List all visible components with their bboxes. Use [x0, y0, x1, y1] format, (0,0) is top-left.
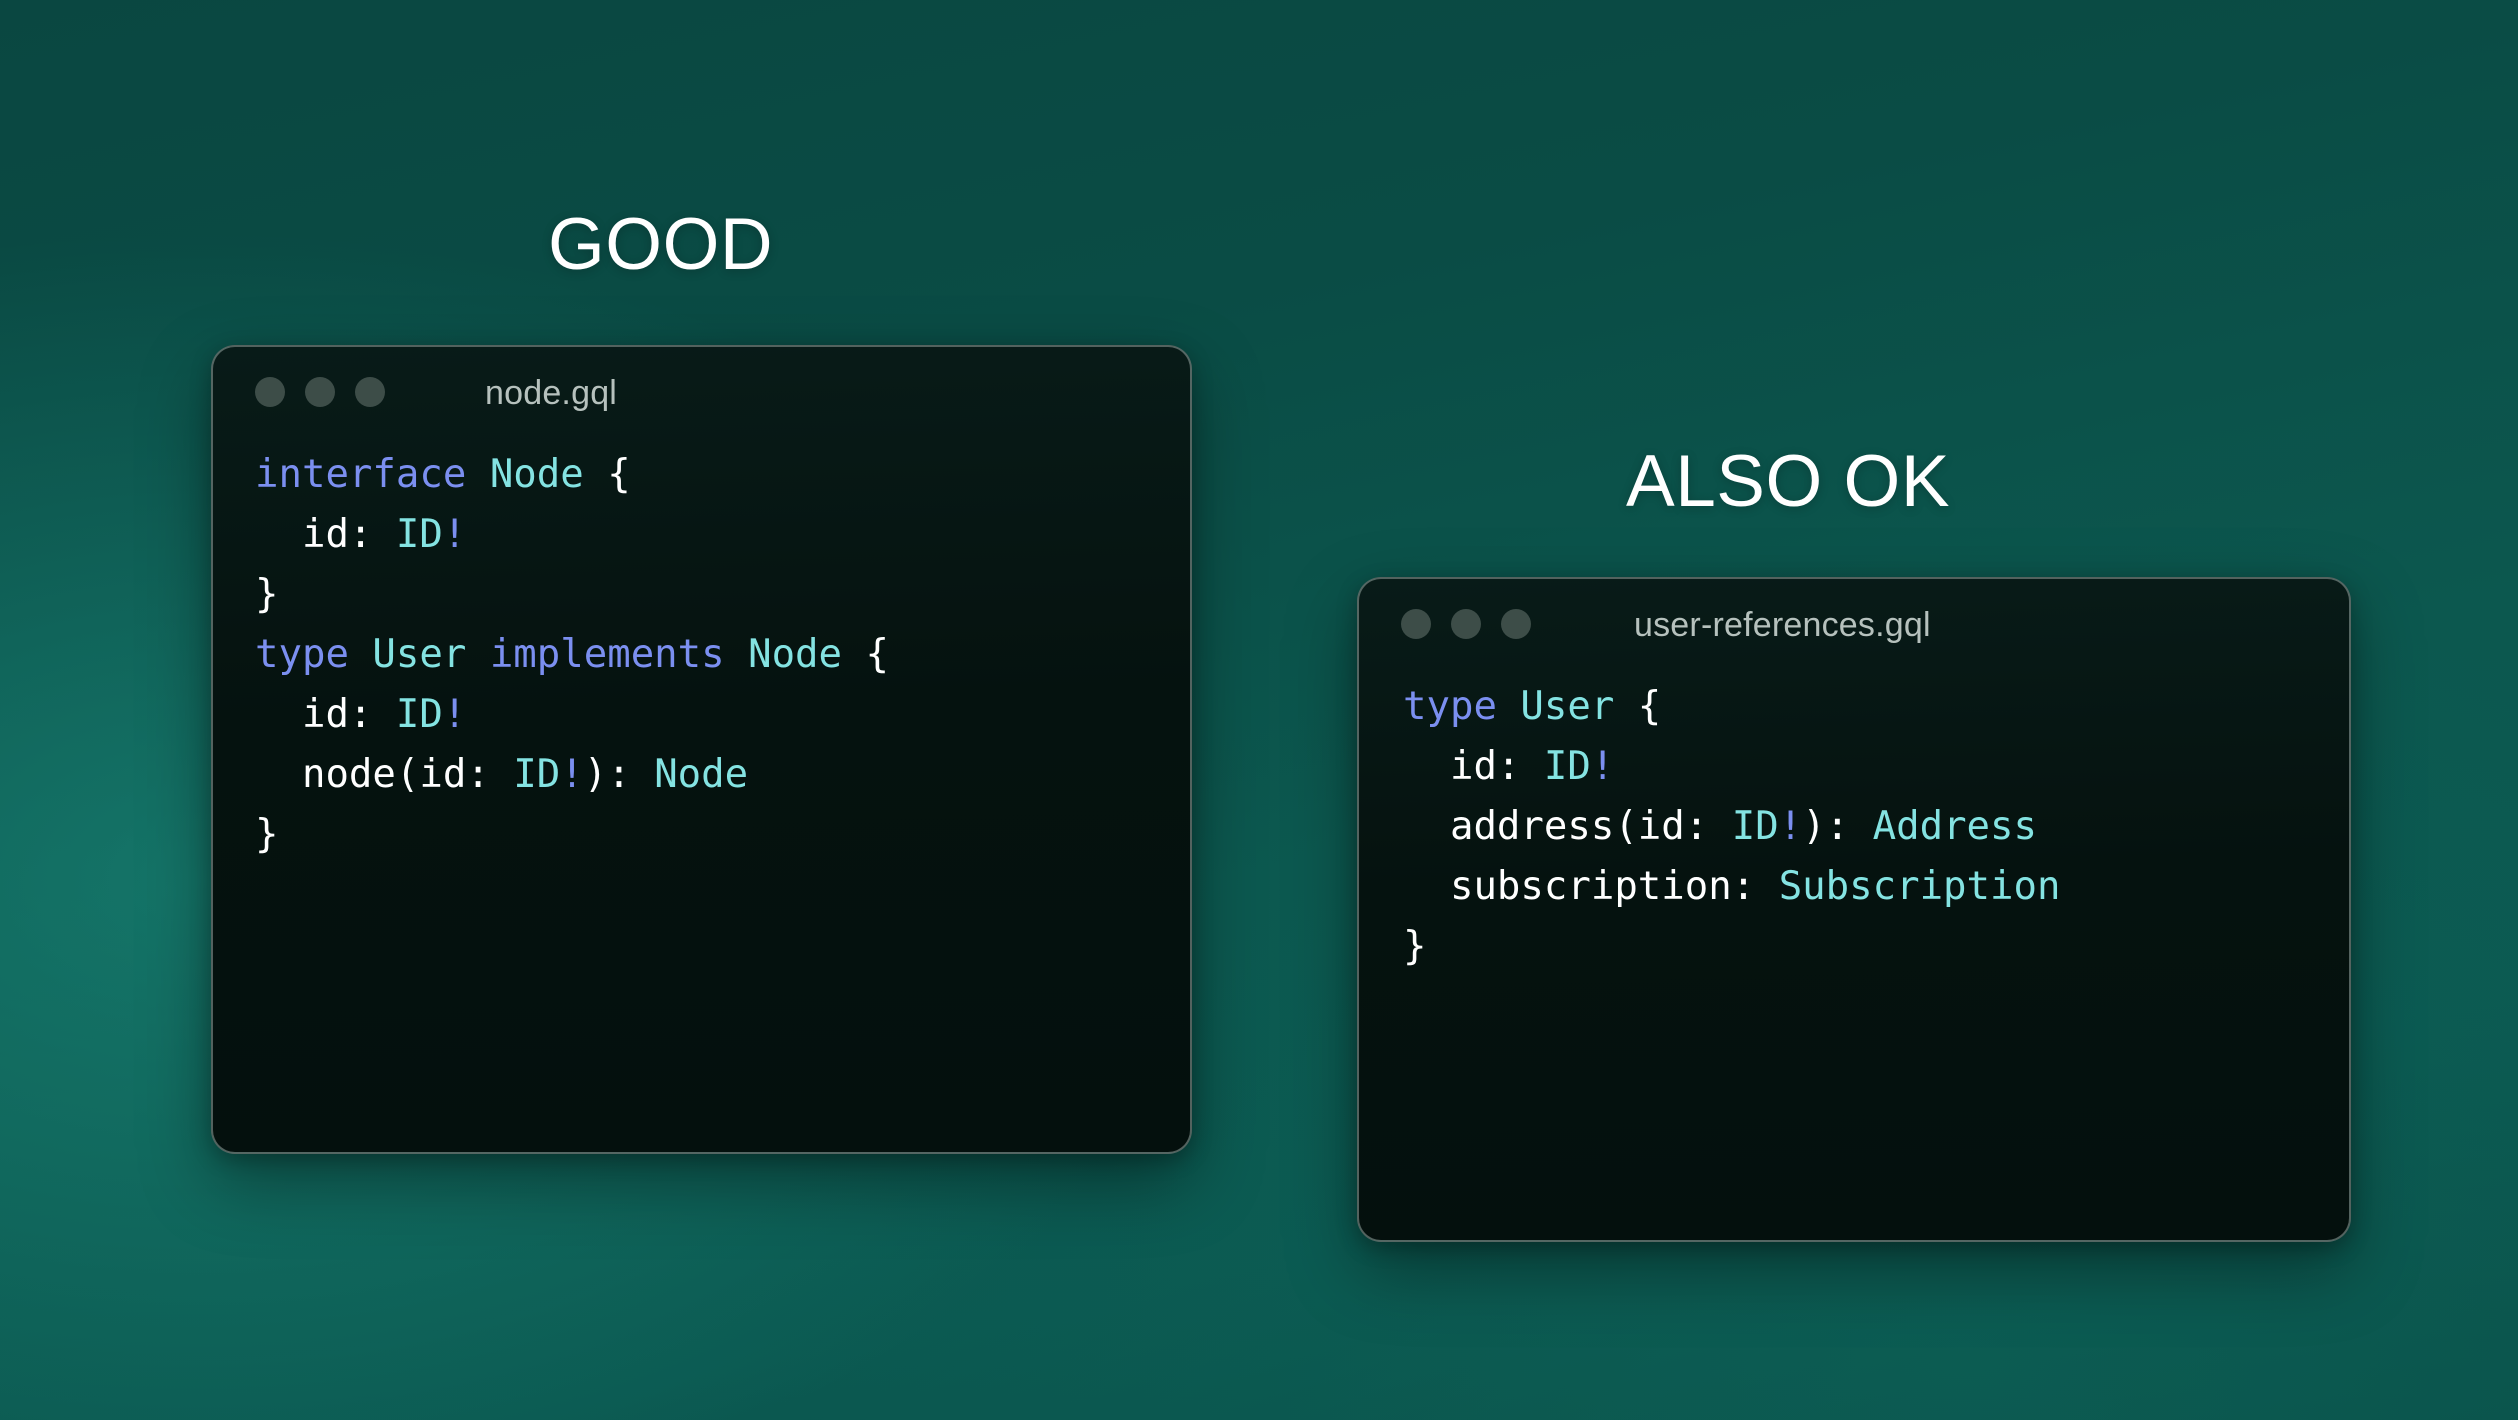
- code-token: address(id:: [1403, 804, 1732, 849]
- code-token: !: [1591, 744, 1614, 789]
- code-line: }: [255, 805, 1190, 865]
- maximize-dot-icon[interactable]: [355, 377, 385, 407]
- code-token: }: [1403, 924, 1426, 969]
- code-token: Node: [490, 452, 584, 497]
- code-token: ID: [396, 692, 443, 737]
- code-block-alsook: type User { id: ID! address(id: ID!): Ad…: [1359, 677, 2349, 977]
- code-token: !: [443, 692, 466, 737]
- code-token: id:: [1403, 744, 1544, 789]
- code-token: }: [255, 572, 278, 617]
- code-token: Address: [1873, 804, 2037, 849]
- minimize-dot-icon[interactable]: [305, 377, 335, 407]
- code-line: node(id: ID!): Node: [255, 745, 1190, 805]
- code-token: ID: [396, 512, 443, 557]
- code-token: node(id:: [255, 752, 513, 797]
- code-block-good: interface Node { id: ID!}type User imple…: [213, 445, 1190, 865]
- code-line: id: ID!: [1403, 737, 2349, 797]
- code-token: {: [842, 632, 889, 677]
- code-token: User: [372, 632, 489, 677]
- code-line: id: ID!: [255, 505, 1190, 565]
- code-line: address(id: ID!): Address: [1403, 797, 2349, 857]
- minimize-dot-icon[interactable]: [1451, 609, 1481, 639]
- code-token: !: [443, 512, 466, 557]
- filename-label-alsook: user-references.gql: [1634, 606, 1931, 645]
- code-token: ):: [584, 752, 654, 797]
- maximize-dot-icon[interactable]: [1501, 609, 1531, 639]
- code-token: !: [560, 752, 583, 797]
- code-token: ):: [1802, 804, 1872, 849]
- code-token: Node: [654, 752, 748, 797]
- code-line: }: [1403, 917, 2349, 977]
- code-token: Node: [748, 632, 842, 677]
- traffic-lights-good: [255, 377, 385, 407]
- close-dot-icon[interactable]: [1401, 609, 1431, 639]
- code-token: ID: [513, 752, 560, 797]
- code-token: id:: [255, 692, 396, 737]
- code-token: subscription:: [1403, 864, 1779, 909]
- code-token: implements: [490, 632, 748, 677]
- code-line: id: ID!: [255, 685, 1190, 745]
- code-token: ID: [1732, 804, 1779, 849]
- code-token: type: [255, 632, 372, 677]
- code-token: User: [1520, 684, 1614, 729]
- code-token: {: [1614, 684, 1661, 729]
- code-token: interface: [255, 452, 490, 497]
- code-window-node-gql: node.gql interface Node { id: ID!}type U…: [211, 345, 1192, 1154]
- code-token: {: [584, 452, 631, 497]
- code-line: type User implements Node {: [255, 625, 1190, 685]
- window-titlebar-good: node.gql: [213, 347, 1190, 439]
- slide-canvas: GOOD node.gql interface Node { id: ID!}t…: [0, 0, 2518, 1420]
- code-token: }: [255, 812, 278, 857]
- code-token: ID: [1544, 744, 1591, 789]
- code-line: type User {: [1403, 677, 2349, 737]
- code-token: Subscription: [1779, 864, 2061, 909]
- code-token: id:: [255, 512, 396, 557]
- code-line: subscription: Subscription: [1403, 857, 2349, 917]
- code-token: type: [1403, 684, 1520, 729]
- heading-also-ok: ALSO OK: [1626, 440, 1950, 523]
- code-line: interface Node {: [255, 445, 1190, 505]
- code-line: }: [255, 565, 1190, 625]
- code-window-user-references-gql: user-references.gql type User { id: ID! …: [1357, 577, 2351, 1242]
- traffic-lights-alsook: [1401, 609, 1531, 639]
- filename-label-good: node.gql: [485, 374, 617, 413]
- window-titlebar-alsook: user-references.gql: [1359, 579, 2349, 671]
- heading-good: GOOD: [548, 203, 773, 286]
- close-dot-icon[interactable]: [255, 377, 285, 407]
- code-token: !: [1779, 804, 1802, 849]
